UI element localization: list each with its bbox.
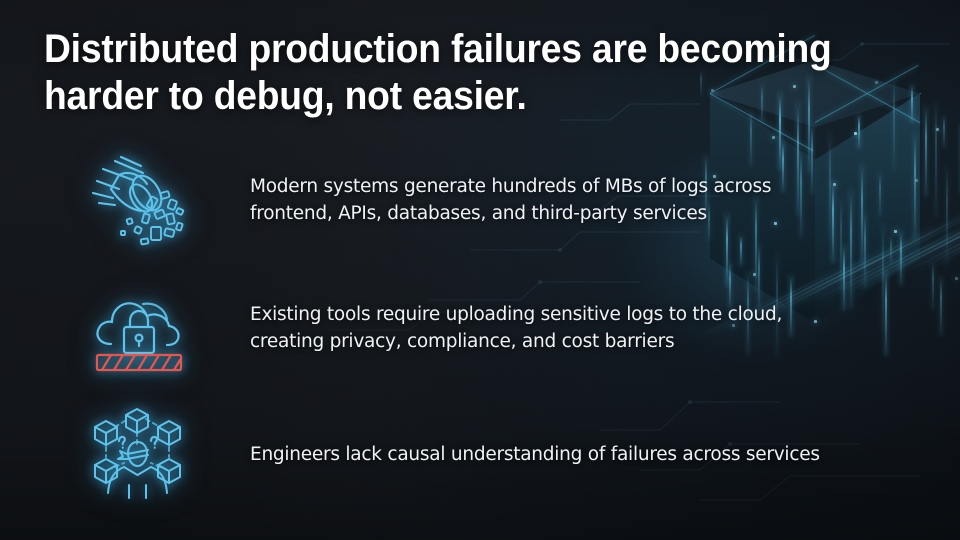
slide: Distributed production failures are beco…: [0, 0, 960, 540]
bullet-item: Modern systems generate hundreds of MBs …: [0, 146, 960, 256]
slide-title: Distributed production failures are beco…: [44, 26, 862, 120]
bullet-icon-cell: [0, 405, 250, 505]
bullet-item: Engineers lack causal understanding of f…: [0, 400, 960, 510]
bullet-text: Existing tools require uploading sensiti…: [250, 302, 960, 356]
bullet-list: Modern systems generate hundreds of MBs …: [0, 146, 960, 510]
cloud-lock-barrier-icon: [85, 282, 189, 376]
bullet-icon-cell: [0, 151, 250, 251]
bullet-text: Modern systems generate hundreds of MBs …: [250, 174, 960, 228]
bullet-item: Existing tools require uploading sensiti…: [0, 274, 960, 384]
broken-data-pipe-icon: [85, 151, 189, 251]
slide-content: Distributed production failures are beco…: [0, 0, 960, 540]
bullet-icon-cell: [0, 282, 250, 376]
blindfolded-engineer-nodes-icon: [84, 405, 190, 505]
bullet-text: Engineers lack causal understanding of f…: [250, 442, 960, 469]
